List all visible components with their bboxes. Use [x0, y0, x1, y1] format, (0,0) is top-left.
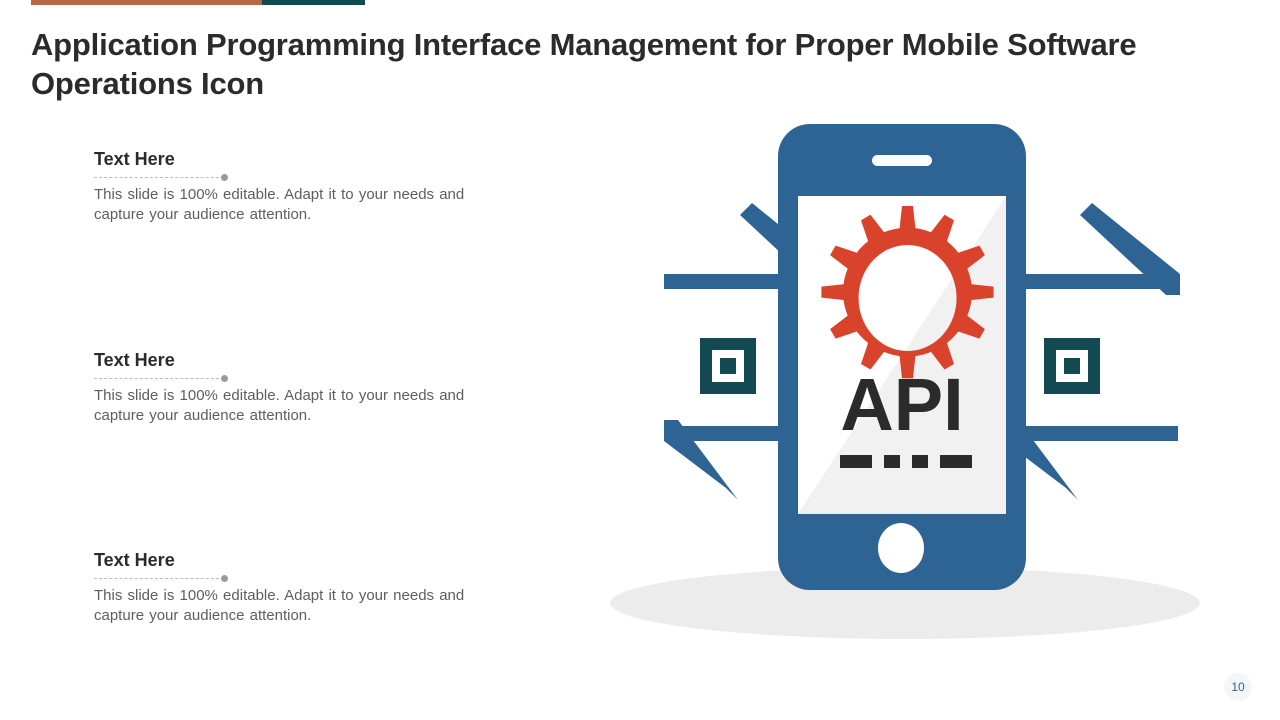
- api-mobile-management-illustration: API: [600, 110, 1220, 650]
- page-title: Application Programming Interface Manage…: [31, 25, 1231, 103]
- divider-dot-icon: [221, 575, 228, 582]
- text-block-1-heading: Text Here: [94, 148, 494, 170]
- divider-dot-icon: [221, 375, 228, 382]
- page-number-badge: 10: [1224, 673, 1252, 701]
- arrow-right-top-right: [1004, 203, 1180, 295]
- text-block-1-body: This slide is 100% editable. Adapt it to…: [94, 185, 484, 224]
- text-block-2-divider: [94, 374, 494, 384]
- accent-bar-right: [262, 0, 365, 5]
- accent-bar-left: [31, 0, 262, 5]
- text-block-3-body: This slide is 100% editable. Adapt it to…: [94, 586, 484, 625]
- arrow-left-bottom-right: [1004, 420, 1178, 500]
- text-block-3: Text Here This slide is 100% editable. A…: [94, 549, 494, 625]
- dashed-line: [94, 177, 224, 178]
- square-target-right: [1044, 338, 1100, 394]
- text-block-1-divider: [94, 173, 494, 183]
- text-block-2-heading: Text Here: [94, 349, 494, 371]
- dashed-line: [94, 578, 224, 579]
- phone-speaker-slot: [872, 155, 932, 166]
- slide-canvas: Application Programming Interface Manage…: [0, 0, 1280, 720]
- divider-dot-icon: [221, 174, 228, 181]
- text-block-2: Text Here This slide is 100% editable. A…: [94, 349, 494, 425]
- dashed-line: [94, 378, 224, 379]
- square-target-left: [700, 338, 756, 394]
- text-block-2-body: This slide is 100% editable. Adapt it to…: [94, 386, 484, 425]
- text-block-1: Text Here This slide is 100% editable. A…: [94, 148, 494, 224]
- text-block-3-heading: Text Here: [94, 549, 494, 571]
- screen-api-label: API: [840, 363, 963, 446]
- phone-home-button: [878, 523, 924, 573]
- text-block-3-divider: [94, 574, 494, 584]
